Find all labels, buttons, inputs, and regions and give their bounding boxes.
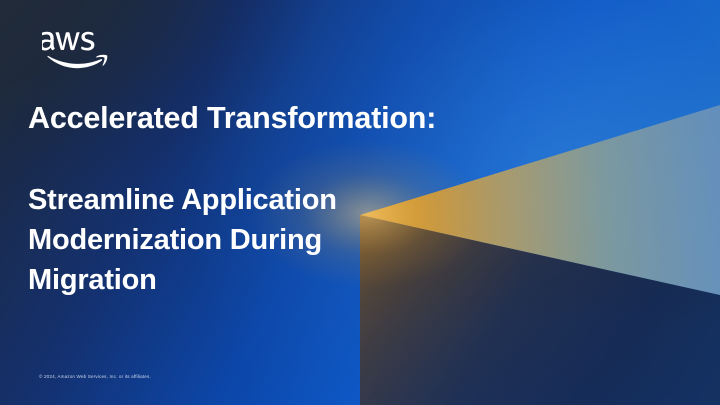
copyright-footer: © 2024, Amazon Web Services, Inc. or its… [39,374,151,379]
aws-logo [42,26,108,70]
subtitle-line-1: Streamline Application [28,180,337,220]
presentation-slide: Accelerated Transformation: Streamline A… [0,0,720,405]
subtitle-line-3: Migration [28,260,337,300]
slide-title: Accelerated Transformation: [28,101,436,136]
slide-subtitle: Streamline Application Modernization Dur… [28,180,337,300]
subtitle-line-2: Modernization During [28,220,337,260]
